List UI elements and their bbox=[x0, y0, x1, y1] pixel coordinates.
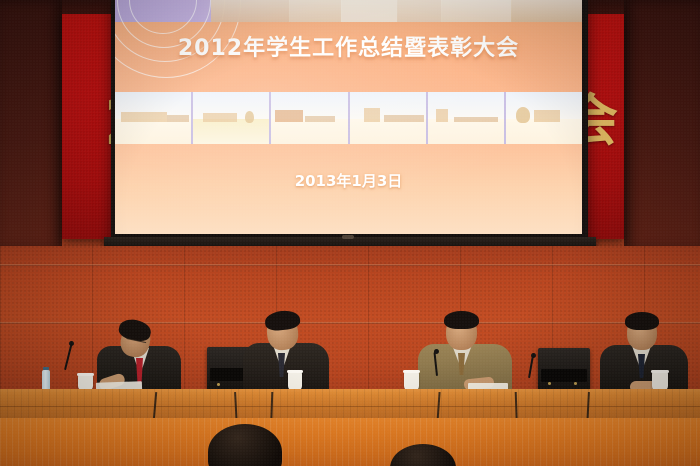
photo-building bbox=[275, 110, 303, 122]
slide-title: 2012年学生工作总结暨表彰大会 bbox=[115, 30, 582, 62]
microphone-2-head bbox=[434, 349, 439, 354]
slide-top-thumbnail-2 bbox=[289, 0, 342, 22]
slide-photo-1 bbox=[115, 92, 193, 144]
microphone-3-head bbox=[531, 353, 536, 358]
photo-building bbox=[534, 110, 560, 122]
panelist-4 bbox=[600, 313, 688, 393]
slide-photo-2 bbox=[193, 92, 271, 144]
photo-road bbox=[305, 116, 335, 122]
photo-building bbox=[121, 112, 167, 122]
decorative-ring-1 bbox=[129, 0, 197, 34]
slide-photo-6 bbox=[506, 92, 582, 144]
cup-lid bbox=[77, 373, 94, 376]
equipment-box-2-led bbox=[548, 382, 551, 385]
slide-top-thumbnail-5 bbox=[441, 0, 512, 22]
foreground-table-grain bbox=[0, 418, 700, 466]
screen-bottom-ledge bbox=[104, 237, 596, 246]
slide-photo-strip bbox=[115, 92, 582, 144]
photo-building bbox=[436, 109, 448, 122]
photo-skyline bbox=[384, 115, 424, 122]
photo-skyline bbox=[454, 117, 498, 122]
slide-top-thumbnail-3 bbox=[341, 0, 398, 22]
microphone-1-head bbox=[69, 341, 74, 346]
stage-seam-1 bbox=[0, 264, 700, 266]
projection-screen: 2012年学生工作总结暨表彰大会 bbox=[115, 0, 582, 234]
photo-building bbox=[203, 113, 237, 122]
photo-tree bbox=[245, 111, 254, 123]
slide-photo-3 bbox=[271, 92, 349, 144]
panelist-2 bbox=[243, 311, 329, 393]
slide-top-thumbnail-6 bbox=[511, 0, 582, 22]
photo-ground bbox=[193, 119, 269, 144]
equipment-box-2-panel bbox=[541, 369, 588, 382]
foreground-table bbox=[0, 418, 700, 466]
cup-lid bbox=[287, 370, 303, 373]
conference-hall-photo: 2 会 2012年学生工作总结暨表彰大会 bbox=[0, 0, 700, 466]
equipment-box-2-led-2 bbox=[574, 382, 577, 385]
bottle-cap bbox=[43, 367, 49, 370]
photo-ground bbox=[271, 119, 347, 144]
slide-top-band bbox=[115, 0, 582, 22]
ledge-knob bbox=[342, 235, 354, 239]
photo-ground bbox=[428, 119, 504, 144]
cup-lid bbox=[651, 370, 669, 373]
photo-building-2 bbox=[167, 115, 189, 122]
photo-tower bbox=[364, 108, 380, 122]
slide-top-thumbnail-4 bbox=[397, 0, 442, 22]
wall-dark-right bbox=[624, 0, 700, 250]
photo-ground bbox=[350, 119, 426, 144]
cup-lid bbox=[403, 370, 420, 373]
wall-dark-left bbox=[0, 0, 62, 250]
panelist-3 bbox=[418, 312, 512, 392]
slide-date: 2013年1月3日 bbox=[115, 170, 582, 191]
photo-ground bbox=[506, 119, 582, 144]
photo-tree bbox=[516, 107, 530, 123]
panelist-3-hair bbox=[444, 311, 479, 329]
panelist-4-hair bbox=[625, 312, 659, 330]
table-seam bbox=[0, 406, 700, 407]
equipment-box-1-led bbox=[217, 383, 220, 386]
equipment-box-2 bbox=[538, 348, 590, 391]
slide-photo-4 bbox=[350, 92, 428, 144]
slide-top-thumbnail-1 bbox=[211, 0, 290, 22]
water-bottle bbox=[42, 370, 50, 391]
slide-photo-5 bbox=[428, 92, 506, 144]
photo-ground bbox=[115, 119, 191, 144]
